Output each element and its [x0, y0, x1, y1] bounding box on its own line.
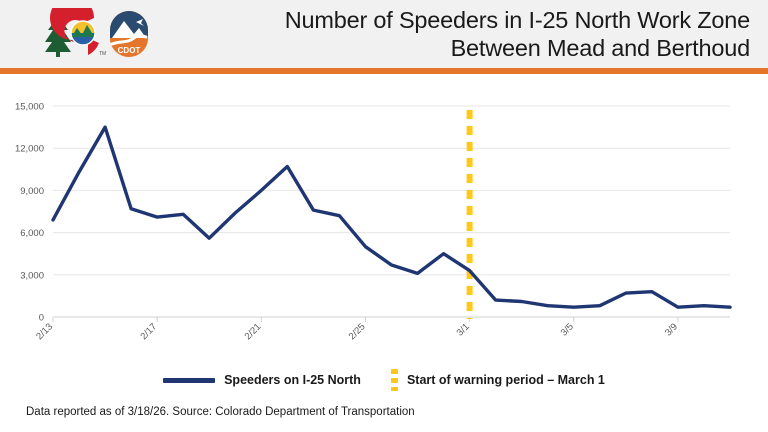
- legend-item-marker: Start of warning period – March 1: [391, 369, 605, 391]
- legend-line-swatch-icon: [163, 378, 215, 383]
- page-title-line-1: Number of Speeders in I-25 North Work Zo…: [205, 6, 750, 34]
- y-axis-tick-label: 15,000: [15, 102, 44, 113]
- logo-svg: TM CDOT: [38, 8, 160, 60]
- x-axis-labels: 2/132/172/212/253/13/53/9: [34, 321, 680, 342]
- y-axis-tick-label: 6,000: [20, 228, 44, 239]
- legend-dashed-swatch-icon: [391, 369, 398, 391]
- x-axis-ticks: [53, 317, 678, 322]
- x-axis-tick-label: 2/21: [243, 321, 264, 342]
- x-axis-tick-label: 3/1: [455, 321, 472, 338]
- gridlines: [53, 106, 730, 317]
- legend-series-label: Speeders on I-25 North: [224, 373, 361, 387]
- y-axis-tick-label: 9,000: [20, 186, 44, 197]
- x-axis-tick-label: 3/9: [663, 321, 680, 338]
- chart-legend: Speeders on I-25 North Start of warning …: [0, 368, 768, 392]
- page-header: TM CDOT Number of Speeders in I-25 North…: [0, 0, 768, 68]
- line-chart: 03,0006,0009,00012,00015,000 2/132/172/2…: [0, 74, 768, 364]
- colorado-cdot-logo: TM CDOT: [38, 8, 160, 60]
- source-note: Data reported as of 3/18/26. Source: Col…: [26, 406, 415, 418]
- x-axis-tick-label: 2/13: [34, 321, 55, 342]
- cdot-badge-label: CDOT: [118, 46, 141, 55]
- x-axis-tick-label: 2/17: [138, 321, 159, 342]
- x-axis-tick-label: 2/25: [347, 321, 368, 342]
- legend-item-series: Speeders on I-25 North: [163, 373, 361, 387]
- chart-plot-area: 03,0006,0009,00012,00015,000 2/132/172/2…: [0, 74, 768, 364]
- legend-marker-label: Start of warning period – March 1: [407, 373, 605, 387]
- svg-text:TM: TM: [99, 51, 106, 57]
- x-axis-tick-label: 3/5: [559, 321, 576, 338]
- y-axis-tick-label: 3,000: [20, 270, 44, 281]
- page-title: Number of Speeders in I-25 North Work Zo…: [205, 6, 750, 62]
- y-axis-tick-label: 0: [39, 313, 44, 324]
- speeders-series-line: [53, 127, 730, 307]
- cdot-badge-icon: CDOT: [110, 11, 148, 57]
- y-axis-tick-label: 12,000: [15, 144, 44, 155]
- y-axis-labels: 03,0006,0009,00012,00015,000: [15, 102, 44, 324]
- page-title-line-2: Between Mead and Berthoud: [205, 34, 750, 62]
